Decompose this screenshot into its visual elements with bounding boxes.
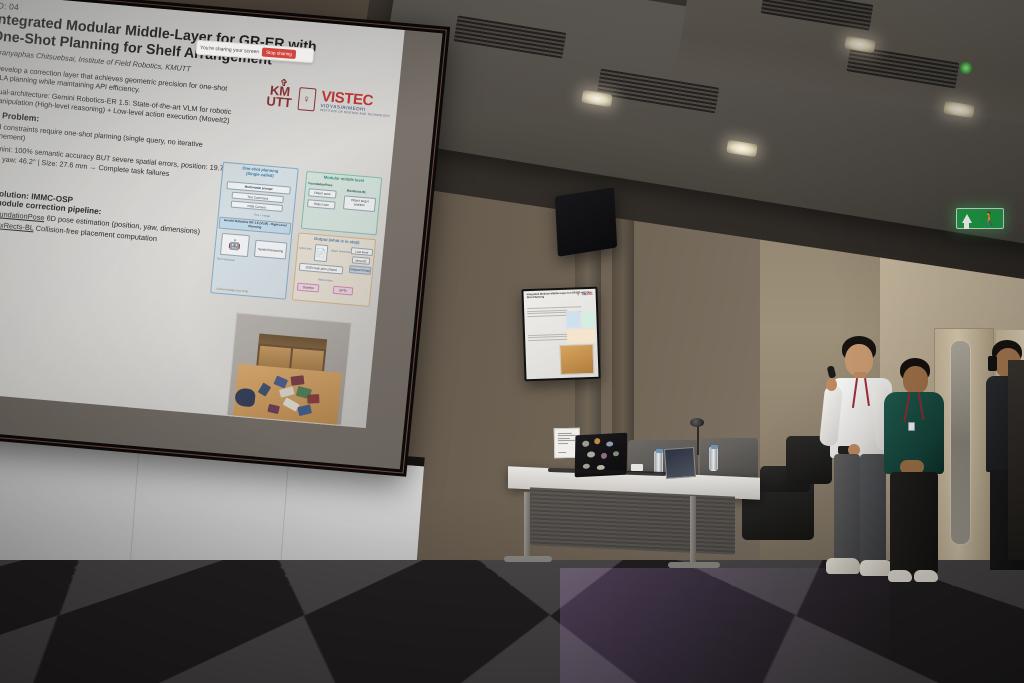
desk-leg-left bbox=[524, 492, 530, 562]
running-person-icon: 🚶 bbox=[982, 212, 998, 225]
attendee-green-sweater bbox=[876, 358, 952, 598]
desk-modesty-panel bbox=[530, 487, 735, 554]
webcam-icon bbox=[690, 418, 704, 427]
bottle-cap bbox=[656, 449, 663, 453]
solution-item-name: MaxRects-BL bbox=[0, 219, 34, 232]
stop-sharing-button[interactable]: Stop sharing bbox=[262, 48, 296, 59]
projection-screen: ID: 04 Integrated Modular Middle-Layer f… bbox=[0, 0, 450, 477]
attendee-shoe-left bbox=[888, 570, 912, 582]
bottle-cap bbox=[711, 445, 718, 449]
presenter-shoe-left bbox=[826, 558, 860, 574]
emergency-exit-sign: 🚶 bbox=[956, 208, 1004, 229]
diagram-node-robot-icon: 🤖 bbox=[220, 233, 250, 257]
kmutt-logo-line2: UTT bbox=[266, 96, 292, 109]
slide-photo-shelf-scene bbox=[226, 312, 352, 426]
attendee-trousers bbox=[890, 472, 938, 574]
laptop-sticker bbox=[587, 451, 595, 457]
desk-leg-right bbox=[690, 496, 696, 568]
laptop-sticker bbox=[613, 451, 619, 456]
attendee-shoe-right bbox=[914, 570, 938, 582]
attendee-far-right-silhouette bbox=[1008, 360, 1024, 560]
second-laptop[interactable] bbox=[664, 447, 696, 479]
scene-object bbox=[307, 394, 319, 404]
attendee-badge bbox=[908, 422, 915, 431]
scene-object bbox=[291, 375, 305, 386]
desk-foot-right bbox=[668, 562, 720, 568]
architecture-diagram: One-shot planning(Single called) Multimo… bbox=[205, 153, 385, 319]
presenter-hand-left bbox=[826, 378, 837, 391]
projection-surface: ID: 04 Integrated Modular Middle-Layer f… bbox=[0, 0, 443, 469]
projection-screen-frame: ID: 04 Integrated Modular Middle-Layer f… bbox=[0, 0, 450, 477]
water-bottle-2[interactable] bbox=[709, 447, 718, 471]
attendee-right-phone[interactable] bbox=[988, 356, 997, 371]
laptop-sticker bbox=[582, 441, 589, 447]
ku-seal-glyph: ♀ bbox=[302, 93, 311, 106]
share-banner-message: You're sharing your screen bbox=[200, 44, 259, 54]
desk-foot-left bbox=[504, 556, 552, 562]
diagram-node-json-doc-icon: 📄 bbox=[314, 244, 329, 262]
microphone[interactable] bbox=[827, 365, 837, 378]
presenter-trouser-left bbox=[834, 454, 860, 562]
laptop-sticker bbox=[601, 453, 607, 459]
exit-up-arrow-icon bbox=[962, 214, 972, 223]
confidence-monitor: Integrated Modular Middle-Layer for GR-E… bbox=[521, 287, 600, 382]
kmutt-cross-icon: ✞ bbox=[280, 79, 288, 87]
wall-speaker bbox=[555, 187, 617, 257]
kmutt-logo: ✞ KM UTT bbox=[266, 85, 293, 108]
monitor-photo-thumb bbox=[559, 344, 594, 375]
desk-small-device[interactable] bbox=[631, 464, 643, 471]
ku-seal-logo: ♀ bbox=[297, 87, 316, 111]
laptop-sticker bbox=[594, 438, 600, 444]
ceiling-indicator-light bbox=[960, 62, 972, 74]
presentation-slide: ID: 04 Integrated Modular Middle-Layer f… bbox=[0, 0, 405, 428]
door-glass-panel bbox=[950, 340, 971, 545]
webcam-stand bbox=[697, 425, 699, 455]
diagram-node-moveit2: MoveIt2 bbox=[352, 256, 371, 265]
diagram-node-gptk: GPTk bbox=[333, 286, 354, 296]
laptop-sticker bbox=[606, 441, 613, 446]
attendee-head bbox=[903, 366, 928, 394]
laptop-sticker bbox=[583, 464, 590, 469]
diagram-node-spatial-reasoning: Spatial Reasoning bbox=[254, 240, 288, 260]
diagram-node-object-target-position: Object target position bbox=[343, 195, 376, 212]
confidence-monitor-screen: Integrated Modular Middle-Layer for GR-E… bbox=[523, 289, 598, 379]
scene-root: 🚶 ID: 04 Integrated Modular Middle-Layer… bbox=[0, 0, 1024, 683]
